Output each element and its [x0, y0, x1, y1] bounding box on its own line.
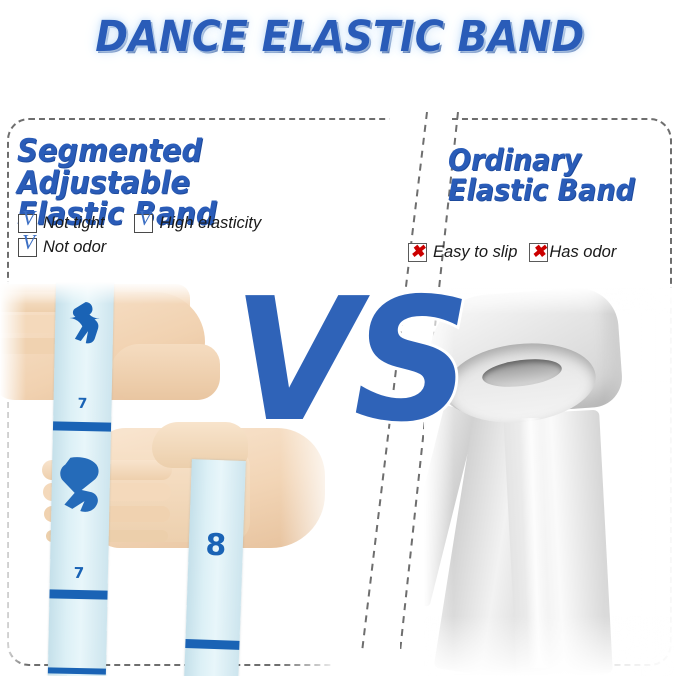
- cross-mark-icon: ✖: [409, 242, 426, 261]
- check-mark-icon: V: [135, 208, 154, 229]
- checkbox-checked[interactable]: V: [18, 238, 37, 257]
- check-mark-icon: V: [19, 232, 38, 253]
- ordinary-band-photo: [424, 288, 674, 676]
- elastic-band-left: ✦ 7 7: [48, 282, 114, 676]
- feature-high-elasticity: V High elasticity: [134, 214, 261, 233]
- feature-row: ✖ Easy to slip ✖ Has odor: [408, 243, 673, 262]
- photo-fade-left: [0, 282, 26, 676]
- band-segment-marker-2: 7: [50, 563, 108, 582]
- feature-label: Easy to slip: [433, 243, 517, 262]
- elastic-band-right: 8: [184, 459, 246, 676]
- band-segment-marker: 7: [53, 395, 111, 412]
- band-segment-line-3: [48, 667, 106, 674]
- upper-thumb: [110, 344, 220, 400]
- feature-label: High elasticity: [159, 214, 261, 233]
- feature-row: V Not tight V High elasticity: [18, 214, 348, 233]
- feature-label: Not odor: [43, 238, 106, 257]
- left-feature-list: V Not tight V High elasticity V Not odor: [18, 214, 348, 257]
- right-panel-heading: Ordinary Elastic Band: [448, 146, 662, 205]
- checkbox-checked[interactable]: V: [134, 214, 153, 233]
- feature-easy-to-slip: ✖ Easy to slip: [408, 243, 517, 262]
- cross-mark-icon: ✖: [530, 242, 547, 261]
- band-segment-line-2: [49, 589, 107, 599]
- photo-fade-bottom-right: [424, 616, 674, 676]
- feature-has-odor: ✖ Has odor: [529, 243, 616, 262]
- title-banner: DANCE ELASTIC BAND: [0, 6, 679, 68]
- feature-label: Not tight: [43, 214, 104, 233]
- segmented-band-photo: ✦ 7 7 8: [0, 282, 340, 676]
- feature-row: V Not odor: [18, 238, 348, 257]
- band-segment-line: [53, 421, 111, 431]
- check-mark-icon: V: [19, 208, 38, 229]
- band-number-8: 8: [188, 527, 243, 564]
- dancer-silhouette-icon-2: [54, 451, 106, 560]
- feature-not-odor: V Not odor: [18, 238, 106, 257]
- product-comparison-graphic: DANCE ELASTIC BAND ✦ 7: [0, 0, 679, 676]
- checkbox-crossed[interactable]: ✖: [408, 243, 427, 262]
- band-segment-line-4: [185, 639, 239, 650]
- checkbox-crossed[interactable]: ✖: [529, 243, 548, 262]
- page-title: DANCE ELASTIC BAND: [95, 12, 584, 62]
- right-feature-list: ✖ Easy to slip ✖ Has odor: [408, 243, 673, 262]
- feature-label: Has odor: [549, 243, 616, 262]
- photo-fade-right: [280, 282, 340, 676]
